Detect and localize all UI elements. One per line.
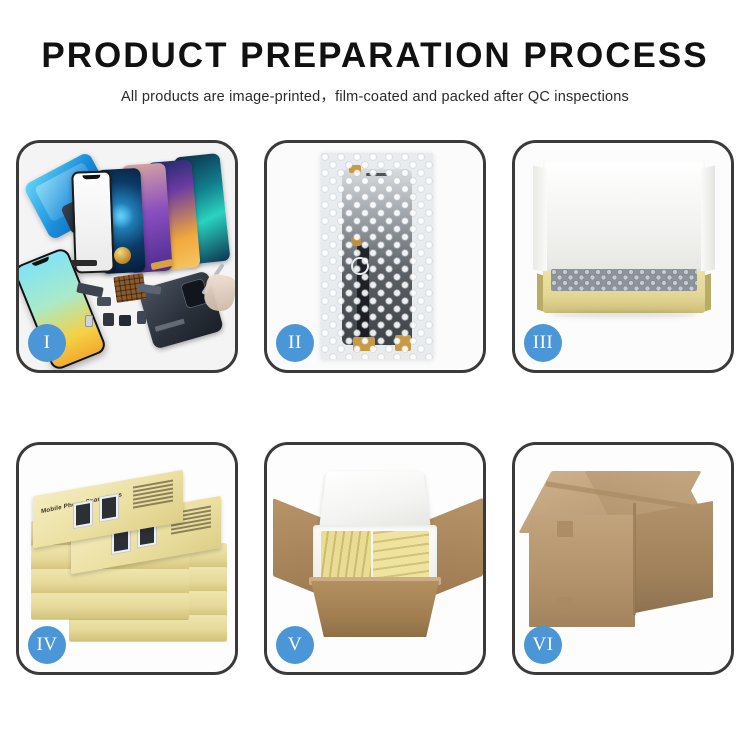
vibration-motor-icon <box>114 247 131 264</box>
process-step-panel-5[interactable]: V <box>264 442 486 675</box>
page-subtitle: All products are image-printed，film-coat… <box>0 85 750 106</box>
phone-notch-icon <box>82 175 100 180</box>
stacked-box-icon <box>31 593 189 619</box>
step-badge-4: IV <box>28 626 66 664</box>
carton-corner-edge <box>633 503 636 615</box>
process-step-panel-4[interactable]: Mobile Phone Spare Parts Mobile Phone Sp… <box>16 442 238 675</box>
step-badge-3: III <box>524 324 562 362</box>
step-badge-2: II <box>276 324 314 362</box>
process-step-panel-3[interactable]: III <box>512 140 734 373</box>
button-component-icon <box>137 311 146 324</box>
step-badge-1: I <box>28 324 66 362</box>
bubble-texture-overlay <box>551 269 697 291</box>
phone-notch-icon <box>32 256 50 266</box>
process-step-panel-6[interactable]: VI <box>512 442 734 675</box>
box-lid-icon <box>543 161 705 273</box>
carton-front-panel-icon <box>311 581 439 637</box>
process-row-top: I II <box>16 140 734 373</box>
speaker-module-icon <box>119 315 131 326</box>
bubble-wrap-bag-icon <box>321 153 433 359</box>
carton-tab-icon <box>557 521 573 537</box>
yellow-box-row-icon <box>373 531 429 579</box>
box-spec-lines <box>133 480 173 517</box>
sim-tray-icon <box>85 315 93 327</box>
product-preparation-process-page: PRODUCT PREPARATION PROCESS All products… <box>0 0 750 750</box>
box-stack-icon: Mobile Phone Spare Parts Mobile Phone Sp… <box>25 465 231 655</box>
process-step-panel-2[interactable]: II <box>264 140 486 373</box>
yellow-box-row-icon <box>321 531 371 579</box>
box-shadow <box>549 311 699 318</box>
step-badge-5: V <box>276 626 314 664</box>
camera-module-icon <box>103 313 114 326</box>
carton-side-panel-icon <box>635 501 713 613</box>
foam-lid-icon <box>319 471 431 529</box>
page-header: PRODUCT PREPARATION PROCESS All products… <box>0 38 750 106</box>
carton-tab-icon <box>557 597 573 613</box>
process-step-panel-1[interactable]: I <box>16 140 238 373</box>
page-title: PRODUCT PREPARATION PROCESS <box>0 38 750 75</box>
carton-front-panel-icon <box>529 515 635 627</box>
process-row-bottom: Mobile Phone Spare Parts Mobile Phone Sp… <box>16 442 734 675</box>
bubble-wrap-contents-icon <box>551 269 697 291</box>
box-product-thumbnail <box>99 493 119 523</box>
small-component-icon <box>97 297 111 306</box>
stacked-box-icon <box>31 569 189 595</box>
packed-yellow-boxes-icon <box>321 531 429 579</box>
box-product-thumbnail <box>73 500 93 530</box>
bubble-texture-overlay <box>321 153 433 359</box>
process-steps-grid: I II <box>16 140 734 675</box>
step-badge-6: VI <box>524 626 562 664</box>
phone-screen-fan <box>71 155 231 273</box>
phone-display-white-icon <box>71 170 115 273</box>
antenna-bar-icon <box>71 260 97 266</box>
